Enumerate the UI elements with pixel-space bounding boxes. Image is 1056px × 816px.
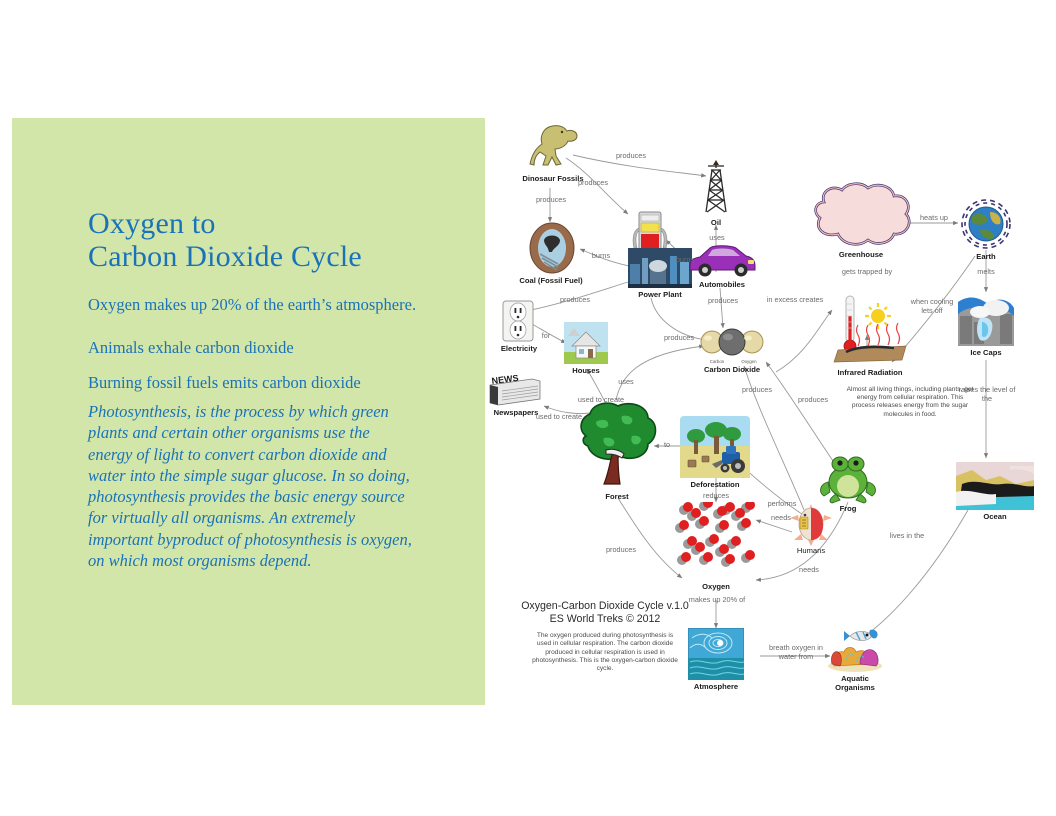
content-panel: Oxygen to Carbon Dioxide Cycle Oxygen ma… (12, 118, 485, 705)
humans-label: Humans (784, 546, 838, 555)
oxygen-carbon-dioxide-cycle-diagram: Dinosaur Fossils Coal (Fossil Fuel) (488, 110, 1056, 710)
edge-label-greenhouse-earth: heats up (912, 214, 956, 223)
edge-label-forest-oxygen: produces (596, 546, 646, 555)
diagram-caption-title-line2: ES World Treks © 2012 (490, 613, 720, 626)
frog-image (818, 452, 878, 504)
diagram-caption-body: The oxygen produced during photosynthesi… (530, 632, 680, 673)
edge-label-defor-forest: to (658, 441, 676, 450)
dinosaur-fossils-image (522, 120, 584, 172)
earth-label: Earth (964, 252, 1008, 261)
edge-label-humans-oxygen: needs (764, 514, 798, 523)
cellular-respiration-note: Almost all living things, including plan… (846, 386, 974, 419)
oxygen-image (674, 502, 760, 580)
oxygen-label: Oxygen (686, 582, 746, 591)
oil-image (700, 160, 732, 216)
edge-label-powerplant-elec: produces (550, 296, 600, 305)
aquatic-organisms-image (826, 620, 884, 672)
coal-image (528, 222, 576, 274)
edge-label-auto-co2: produces (698, 297, 748, 306)
bullet-item-0: Oxygen makes up 20% of the earth’s atmos… (88, 295, 418, 314)
edge-label-frog-oxygen: needs (792, 566, 826, 575)
page-title-line1: Oxygen to (88, 207, 468, 240)
ice-caps-image (958, 292, 1014, 346)
infrared-radiation-label: Infrared Radiation (822, 368, 918, 377)
coal-label: Coal (Fossil Fuel) (516, 276, 586, 285)
deforestation-image (680, 416, 750, 478)
newspapers-image: NEWS (488, 375, 542, 407)
edge-label-earth-infrared: when cooling lets off (908, 298, 956, 315)
edge-label-forest-news: used to create (526, 413, 592, 422)
carbon-dioxide-image (700, 328, 764, 356)
edge-label-forest-houses: used to create (568, 396, 634, 405)
power-plant-image (628, 248, 692, 288)
edge-label-earth-icecaps: melts (968, 268, 1004, 277)
atmosphere-image (688, 628, 744, 680)
bullet-item-2: Burning fossil fuels emits carbon dioxid… (88, 373, 418, 392)
houses-image (564, 322, 608, 364)
earth-image (960, 198, 1012, 250)
edge-label-forest-uses-co2: uses (612, 378, 640, 387)
greenhouse-image (810, 182, 914, 248)
greenhouse-label: Greenhouse (826, 250, 896, 259)
edge-label-auto-oil: uses (700, 234, 734, 243)
edge-label-humans-co2: produces (732, 386, 782, 395)
edge-label-ocean-aquatic: lives in the (888, 532, 926, 541)
edge-label-infrared-greenhouse: gets trapped by (834, 268, 900, 277)
power-plant-label: Power Plant (624, 290, 696, 299)
edge-label-frog-co2: produces (788, 396, 838, 405)
humans-image (790, 504, 832, 546)
ocean-label: Ocean (966, 512, 1024, 521)
infrared-radiation-image (832, 288, 910, 368)
page-title: Oxygen to Carbon Dioxide Cycle (88, 207, 468, 273)
edge-label-auto-petroleum: burns (668, 256, 702, 265)
diagram-caption-title-line1: Oxygen-Carbon Dioxide Cycle v.1.0 (490, 600, 720, 613)
edge-label-powerplant-co2: produces (654, 334, 704, 343)
edge-label-dino-oil: produces (606, 152, 656, 161)
houses-label: Houses (560, 366, 612, 375)
aquatic-organisms-label: Aquatic Organisms (822, 674, 888, 692)
slide-canvas: Oxygen to Carbon Dioxide Cycle Oxygen ma… (0, 0, 1056, 816)
deforestation-label: Deforestation (680, 480, 750, 489)
photosynthesis-paragraph: Photosynthesis, is the process by which … (88, 401, 415, 571)
atmosphere-label: Atmosphere (684, 682, 748, 691)
edge-label-powerplant-coal: burns (584, 252, 618, 261)
edge-label-elec-houses: for (536, 332, 556, 341)
carbon-dioxide-label: Carbon Dioxide (694, 365, 770, 374)
edge-label-defor-oxygen: reduces (692, 492, 740, 501)
bullet-item-1: Animals exhale carbon dioxide (88, 338, 418, 357)
electricity-label: Electricity (492, 344, 546, 353)
ice-caps-label: Ice Caps (958, 348, 1014, 357)
page-title-line2: Carbon Dioxide Cycle (88, 240, 468, 273)
diagram-caption-title: Oxygen-Carbon Dioxide Cycle v.1.0 ES Wor… (490, 600, 720, 626)
forest-label: Forest (588, 492, 646, 501)
edge-label-humans-defor: performs (760, 500, 804, 509)
electricity-image (502, 300, 534, 342)
edge-label-dino-coal: produces (526, 196, 576, 205)
edge-label-co2-greenhouse: in excess creates (758, 296, 832, 305)
edge-label-dino-petroleum: produces (568, 179, 618, 188)
edge-label-atmosphere-aquatic: breath oxygen in water from (760, 644, 832, 661)
forest-image (574, 398, 660, 490)
ocean-image (956, 462, 1034, 510)
oil-label: Oil (690, 218, 742, 227)
automobiles-label: Automobiles (686, 280, 758, 289)
